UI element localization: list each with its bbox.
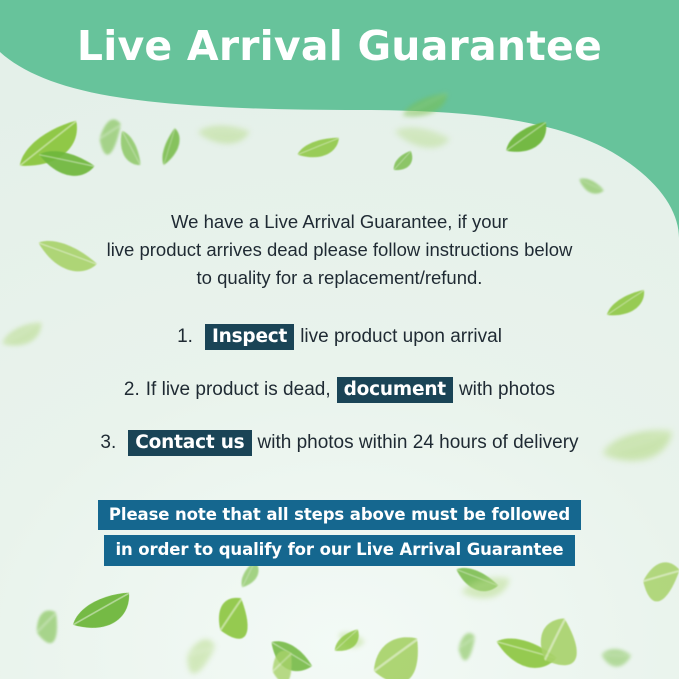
step-text-after: with photos within 24 hours of delivery [258, 432, 579, 454]
step-text-before: If live product is dead, [146, 379, 331, 401]
step-number: 1. [177, 326, 193, 348]
step-item-2: 2. If live product is dead, document wit… [0, 373, 679, 407]
step-text-after: with photos [459, 379, 555, 401]
step-highlight-inspect: Inspect [205, 324, 294, 350]
intro-line: live product arrives dead please follow … [50, 236, 629, 264]
intro-paragraph: We have a Live Arrival Guarantee, if you… [50, 208, 629, 292]
steps-list: 1. Inspect live product upon arrival 2. … [0, 320, 679, 479]
footer-banner: Please note that all steps above must be… [0, 500, 679, 566]
intro-line: We have a Live Arrival Guarantee, if you… [50, 208, 629, 236]
intro-line: to quality for a replacement/refund. [50, 264, 629, 292]
content-area: We have a Live Arrival Guarantee, if you… [0, 0, 679, 679]
step-number: 3. [100, 432, 116, 454]
live-arrival-guarantee-poster: Live Arrival Guarantee We have a Live Ar… [0, 0, 679, 679]
banner-line-2: in order to qualify for our Live Arrival… [104, 535, 574, 565]
step-item-3: 3. Contact us with photos within 24 hour… [0, 426, 679, 460]
step-number: 2. [124, 379, 140, 401]
step-highlight-contact-us: Contact us [128, 430, 251, 456]
step-highlight-document: document [337, 377, 453, 403]
step-item-1: 1. Inspect live product upon arrival [0, 320, 679, 354]
step-text-after: live product upon arrival [300, 326, 502, 348]
banner-line-1: Please note that all steps above must be… [98, 500, 581, 530]
